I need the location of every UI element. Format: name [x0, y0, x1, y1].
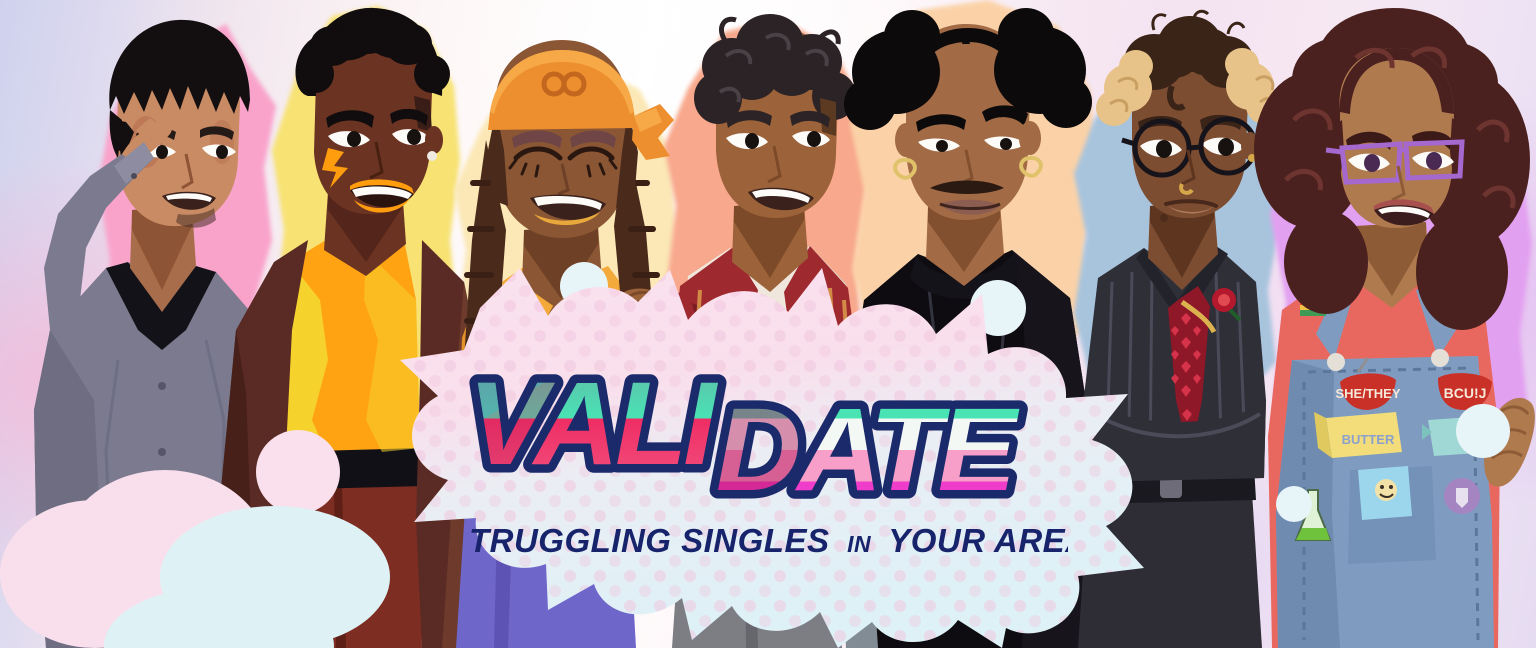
pin-butter: BUTTER — [1314, 412, 1402, 458]
svg-text:BUTTER: BUTTER — [1342, 432, 1395, 447]
pin-purple-round — [1444, 478, 1480, 514]
cloud-puff-8 — [1456, 404, 1510, 458]
validate-banner: SHE/THEY BCU!J BUTTER — [0, 0, 1536, 648]
svg-text:SHE/THEY: SHE/THEY — [1335, 386, 1400, 401]
speech-bubble-lobes — [352, 268, 1152, 648]
svg-text:BCU!J: BCU!J — [1444, 385, 1487, 401]
cloud-puff-9 — [1276, 486, 1312, 522]
cloud-puff-1 — [256, 430, 340, 514]
character-overalls-pins: SHE/THEY BCU!J BUTTER — [1246, 0, 1536, 648]
pin-juice-box — [1358, 466, 1412, 520]
